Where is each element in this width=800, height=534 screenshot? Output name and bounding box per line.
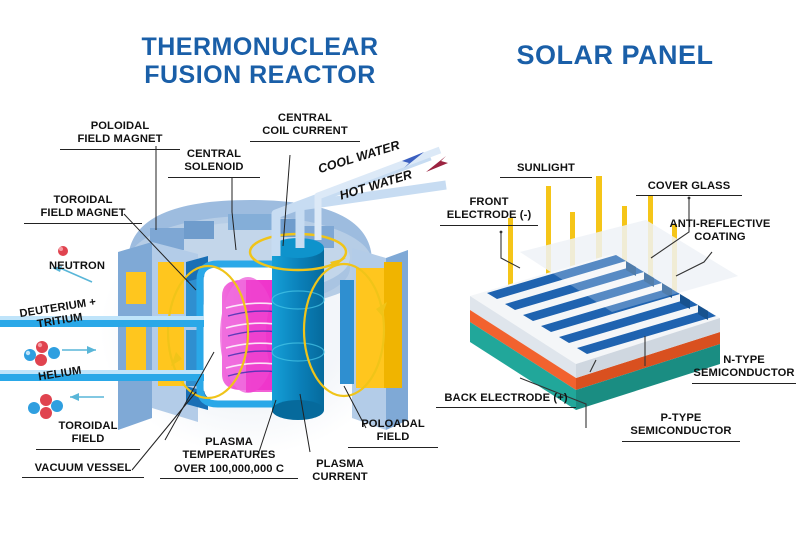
label-toroidal-field-magnet: TOROIDAL FIELD MAGNET (24, 194, 142, 224)
label-cover-glass: COVER GLASS (636, 180, 742, 196)
label-n-type-semiconductor: N-TYPE SEMICONDUCTOR (692, 354, 796, 384)
label-central-solenoid: CENTRAL SOLENOID (168, 148, 260, 178)
label-neutron: NEUTRON (34, 260, 120, 273)
label-back-electrode: BACK ELECTRODE (+) (436, 392, 576, 408)
label-plasma-temperatures: PLASMA TEMPERATURES OVER 100,000,000 C (160, 436, 298, 479)
label-toroidal-field: TOROIDAL FIELD (36, 420, 140, 450)
label-poloidal-field-magnet: POLOIDAL FIELD MAGNET (60, 120, 180, 150)
label-poloadal-field: POLOADAL FIELD (348, 418, 438, 448)
diagram-canvas: THERMONUCLEAR FUSION REACTOR SOLAR PANEL (0, 0, 800, 534)
label-vacuum-vessel: VACUUM VESSEL (22, 462, 144, 478)
label-plasma-current: PLASMA CURRENT (300, 458, 380, 485)
label-p-type-semiconductor: P-TYPE SEMICONDUCTOR (622, 412, 740, 442)
label-central-coil-current: CENTRAL COIL CURRENT (250, 112, 360, 142)
label-anti-reflective-coating: ANTI-REFLECTIVE COATING (656, 218, 784, 245)
solar-panel-illustration (0, 0, 800, 534)
label-front-electrode: FRONT ELECTRODE (-) (440, 196, 538, 226)
label-sunlight: SUNLIGHT (500, 162, 592, 178)
